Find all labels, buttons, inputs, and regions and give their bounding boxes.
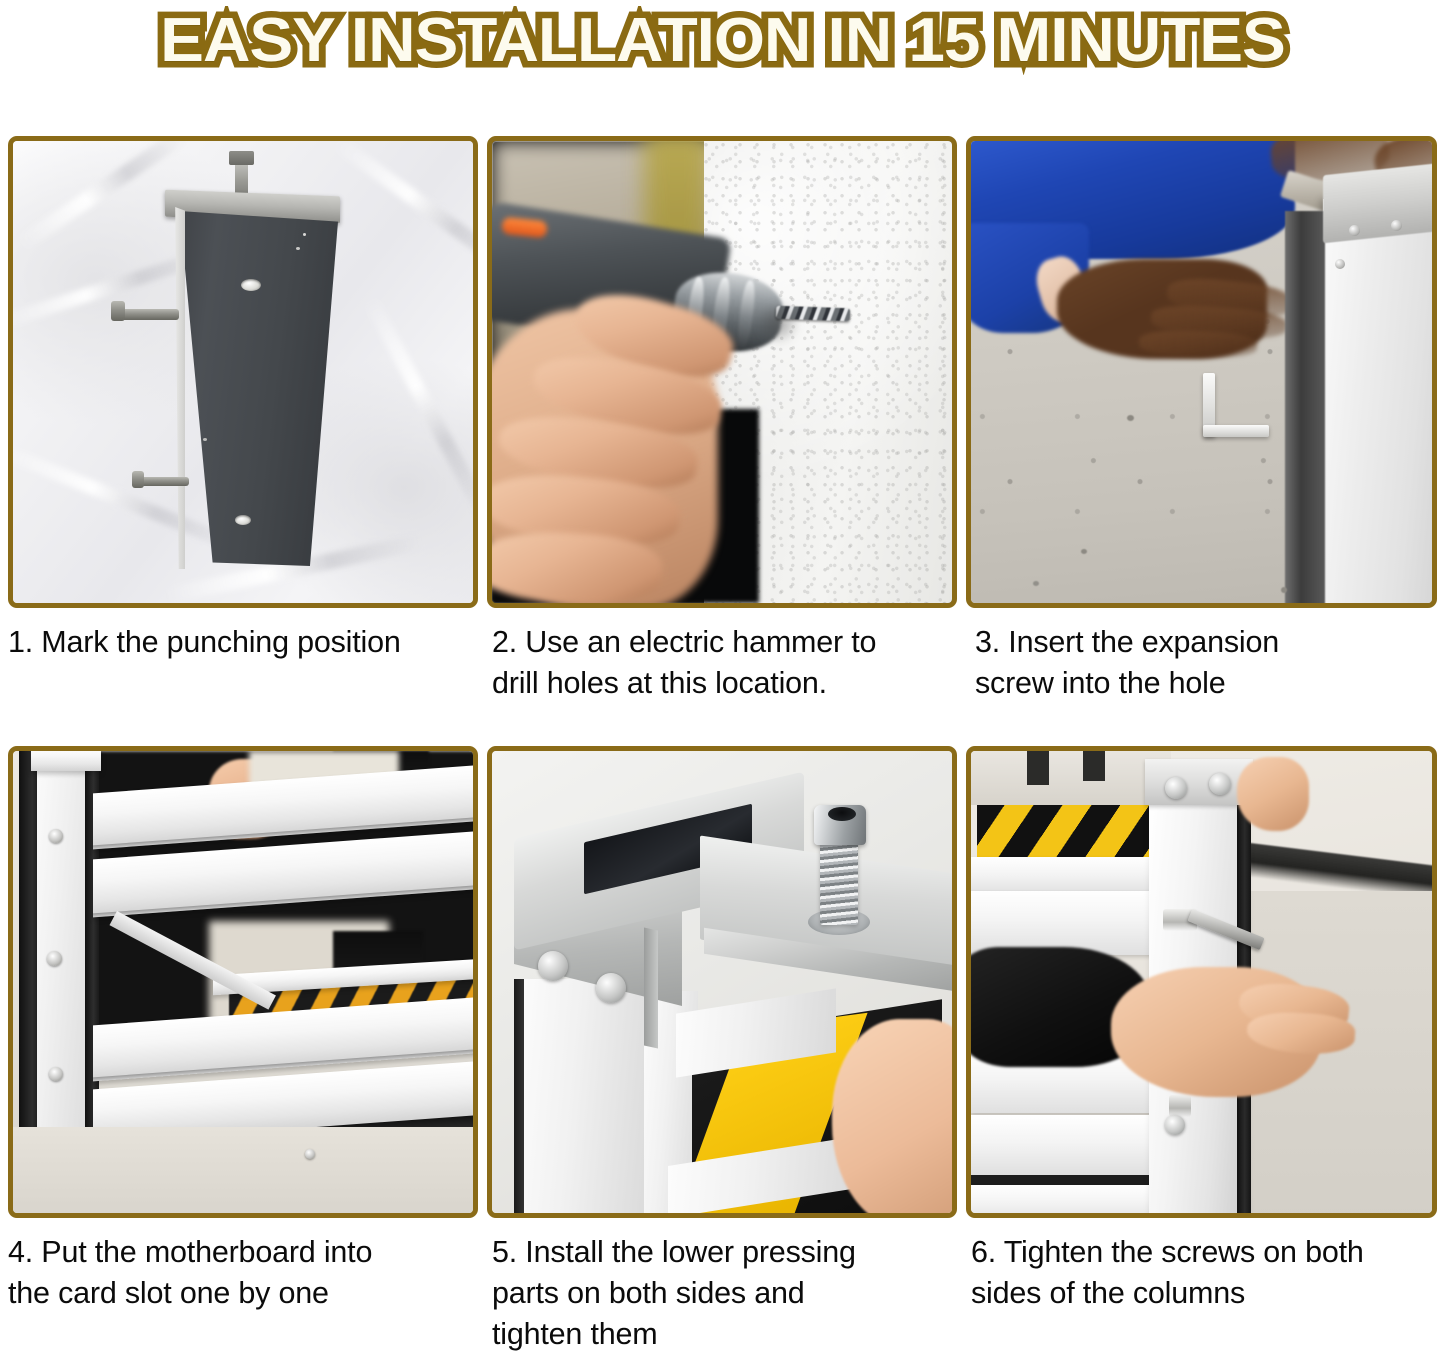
drill-dust xyxy=(756,301,800,345)
speck xyxy=(303,233,306,236)
hex-key-long-arm xyxy=(1203,425,1269,437)
background-gap xyxy=(1083,751,1105,781)
speck xyxy=(296,247,300,250)
floor-debris xyxy=(1033,581,1039,586)
step-1-photo xyxy=(8,136,478,608)
background-structure xyxy=(971,751,1171,805)
top-nut xyxy=(229,151,254,165)
column-post xyxy=(37,751,89,1151)
column-screw xyxy=(49,1067,63,1081)
bolt-head-lower xyxy=(132,471,144,488)
column-screw xyxy=(1349,225,1360,236)
floor-debris xyxy=(1127,415,1134,421)
barrier-board xyxy=(971,1185,1161,1213)
bolt-head-upper xyxy=(111,301,125,321)
column-top-screw-right xyxy=(1209,773,1231,795)
bolt-hex-socket xyxy=(828,807,856,821)
column-top-bracket xyxy=(1323,163,1432,244)
column-lower-screw xyxy=(1165,1115,1185,1135)
expansion-bolt-upper xyxy=(117,309,179,320)
column-screw xyxy=(1335,259,1345,269)
barrier-board xyxy=(971,1115,1161,1175)
column-cap xyxy=(31,751,101,771)
installation-guide-infographic: EASY INSTALLATION IN 15 MINUTES xyxy=(0,0,1445,1352)
white-column xyxy=(520,979,648,1213)
column-edge-shadow xyxy=(514,979,524,1213)
floor-anchor xyxy=(305,1149,315,1159)
lower-screw-socket xyxy=(1169,1095,1191,1117)
template-hole-upper xyxy=(241,279,261,291)
column-screw xyxy=(1391,220,1402,231)
bracket-screw-left xyxy=(538,951,568,981)
barrier-board xyxy=(971,891,1161,955)
step-5-photo xyxy=(487,746,957,1218)
page-title: EASY INSTALLATION IN 15 MINUTES xyxy=(160,10,1285,72)
second-hand xyxy=(1237,757,1309,831)
column-groove xyxy=(1285,211,1325,603)
bracket-screw-right xyxy=(596,973,626,1003)
step-3-photo xyxy=(966,136,1437,608)
floor-debris xyxy=(1081,549,1087,554)
column-screw xyxy=(47,951,62,966)
barrier-board-top xyxy=(971,857,1161,895)
step-2-caption: 2. Use an electric hammer to drill holes… xyxy=(492,622,962,704)
bolt-thread xyxy=(820,833,858,925)
column-top-screw-left xyxy=(1165,777,1187,799)
step-4-photo xyxy=(8,746,478,1218)
step-1-caption: 1. Mark the punching position xyxy=(8,622,478,663)
floor xyxy=(13,1127,473,1213)
hazard-stripe xyxy=(977,803,1149,861)
step-4-caption: 4. Put the motherboard into the card slo… xyxy=(8,1232,478,1314)
background-gap xyxy=(1027,751,1049,785)
board-seam-dark xyxy=(971,1175,1161,1185)
floor-debris xyxy=(1281,587,1287,593)
title-banner: EASY INSTALLATION IN 15 MINUTES xyxy=(0,0,1445,82)
column-screw xyxy=(49,829,63,843)
step-6-photo xyxy=(966,746,1437,1218)
step-6-caption: 6. Tighten the screws on both sides of t… xyxy=(971,1232,1445,1314)
step-3-caption: 3. Insert the expansion screw into the h… xyxy=(975,622,1445,704)
step-5-caption: 5. Install the lower pressing parts on b… xyxy=(492,1232,962,1352)
step-2-photo xyxy=(487,136,957,608)
speck xyxy=(203,438,207,441)
template-hole-lower xyxy=(235,515,251,525)
bracket-fold-edge xyxy=(644,928,658,1049)
expansion-bolt-lower xyxy=(137,477,189,486)
hand xyxy=(832,1019,952,1213)
